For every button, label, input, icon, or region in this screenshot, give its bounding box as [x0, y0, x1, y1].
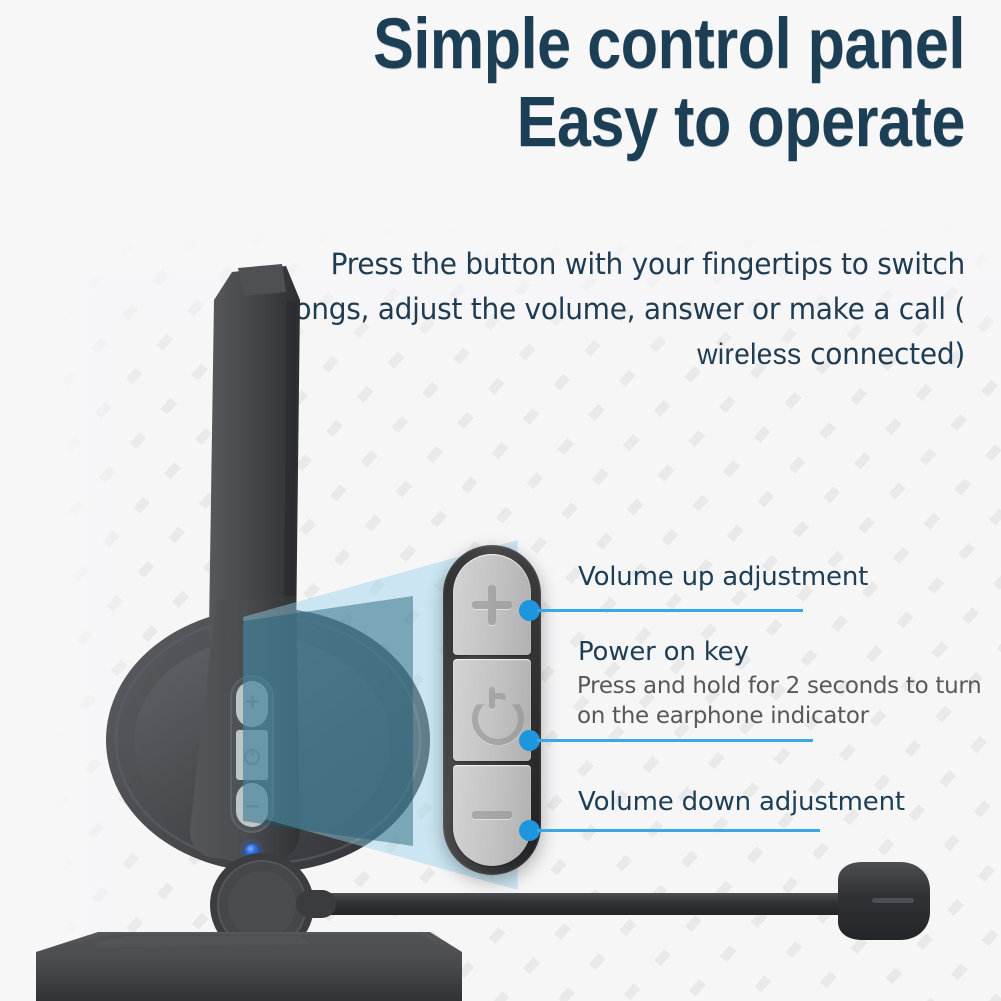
- callout-desc-power-on: Press and hold for 2 seconds to turn on …: [577, 671, 997, 731]
- callout-line-volume-down: [537, 829, 820, 832]
- headband-top-cap: [238, 264, 286, 296]
- plus-icon: [472, 585, 512, 625]
- power-icon: [469, 687, 515, 733]
- callout-line-power-on: [537, 739, 813, 742]
- mic-boom: [300, 893, 855, 915]
- infographic-canvas: Simple control panel Easy to operate Pre…: [0, 0, 1001, 1001]
- magnify-beam-core: [243, 596, 413, 846]
- minus-icon: [472, 811, 512, 819]
- callout-line-volume-up: [537, 609, 803, 612]
- callout-title-volume-up: Volume up adjustment: [578, 562, 868, 592]
- callout-title-power-on: Power on key: [578, 637, 749, 667]
- volume-down-button[interactable]: [453, 765, 531, 866]
- mic-boom-joint: [296, 890, 336, 918]
- callout-title-volume-down: Volume down adjustment: [578, 787, 905, 817]
- mic-grille: [872, 898, 914, 903]
